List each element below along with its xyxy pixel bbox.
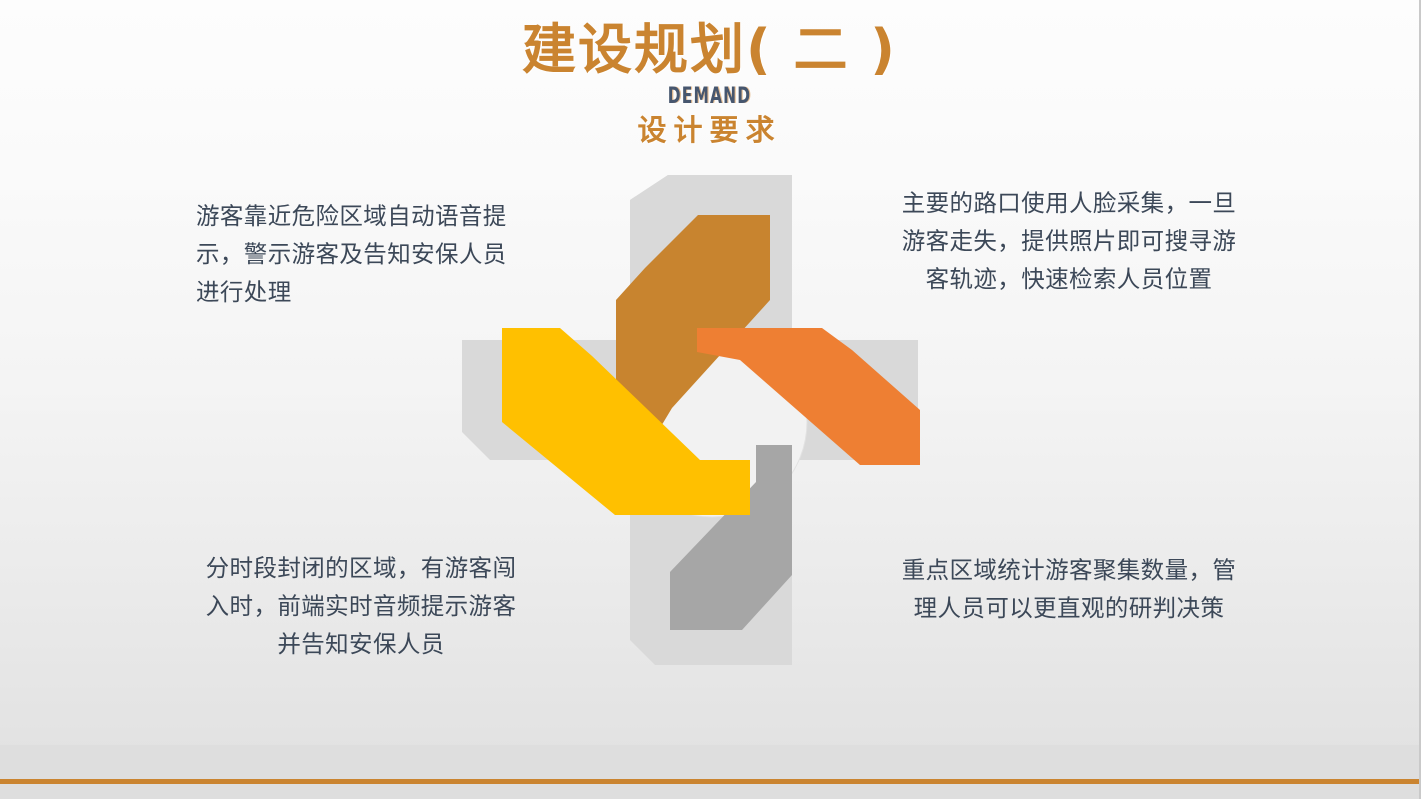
callout-top-right: 主要的路口使用人脸采集，一旦游客走失，提供照片即可搜寻游客轨迹，快速检索人员位置: [900, 185, 1238, 299]
page-title: 建设规划( 二 ): [0, 18, 1419, 82]
footer-accent-rule: [0, 779, 1419, 784]
callout-bottom-left: 分时段封闭的区域，有游客闯入时，前端实时音频提示游客并告知安保人员: [196, 550, 526, 664]
slide-canvas: 建设规划( 二 ) DEMAND 设计要求: [0, 0, 1421, 799]
title-block: 建设规划( 二 ) DEMAND 设计要求: [0, 18, 1419, 147]
page-subtitle: 设计要求: [0, 114, 1419, 147]
callout-top-left: 游客靠近危险区域自动语音提示，警示游客及告知安保人员进行处理: [196, 198, 526, 312]
footer-band: [0, 745, 1419, 799]
page-title-english: DEMAND: [156, 86, 1263, 108]
callout-bottom-right: 重点区域统计游客聚集数量，管理人员可以更直观的研判决策: [900, 552, 1238, 628]
